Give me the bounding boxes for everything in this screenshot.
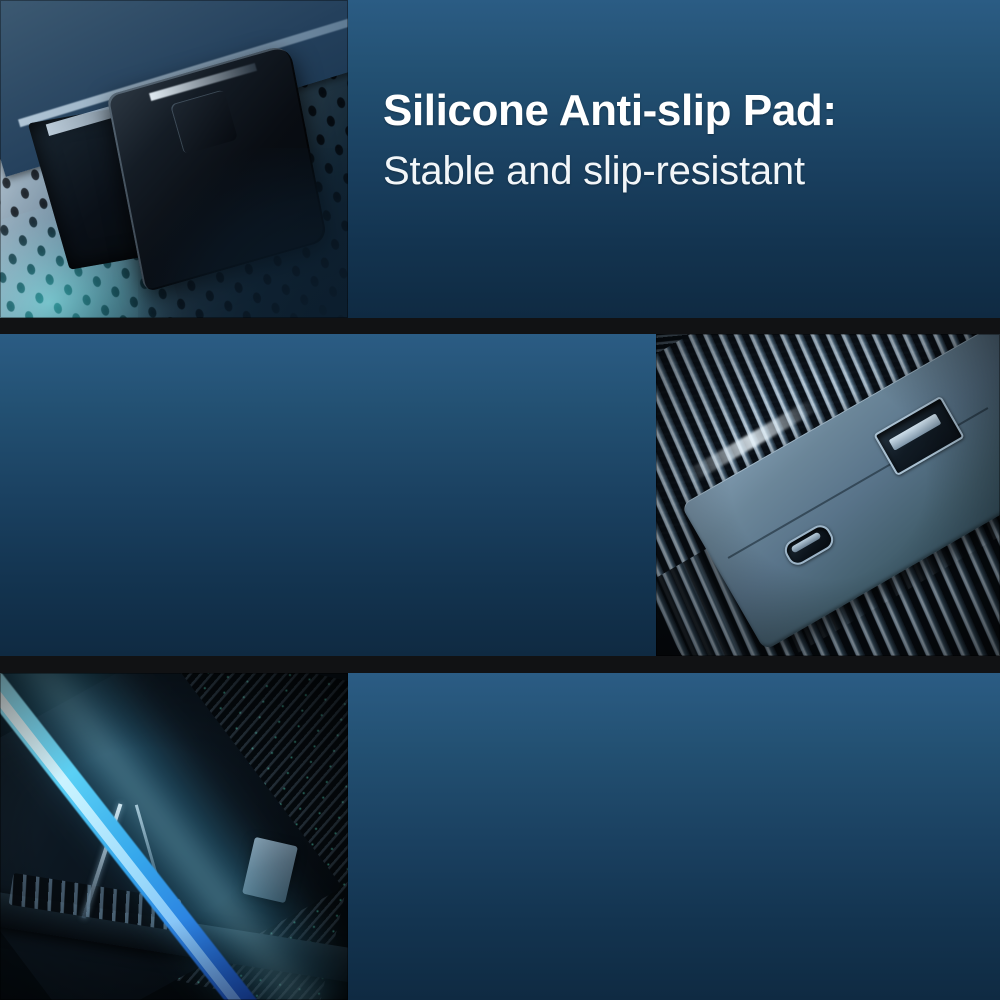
led-stand-graphic [0, 673, 348, 1000]
product-photo-multiple-ports-expansion [656, 334, 1000, 656]
feature-subline: Stable and slip-resistant [383, 150, 837, 192]
photo-vignette [0, 673, 348, 1000]
mesh-surface-graphic [0, 0, 348, 318]
product-photo-triangular-stability [0, 673, 348, 1000]
panel-divider-2 [0, 656, 1000, 673]
port-panel-graphic [656, 334, 1000, 656]
feature-panel-silicone-anti-slip-pad: Silicone Anti-slip Pad: Stable and slip-… [0, 0, 1000, 318]
product-feature-infographic: Silicone Anti-slip Pad: Stable and slip-… [0, 0, 1000, 1000]
feature-headline: Silicone Anti-slip Pad: [383, 88, 837, 134]
panel-divider-1 [0, 318, 1000, 334]
feature-text-silicone-anti-slip-pad: Silicone Anti-slip Pad: Stable and slip-… [383, 88, 837, 192]
photo-vignette [656, 334, 1000, 656]
product-photo-silicone-anti-slip-pad [0, 0, 348, 318]
corner-shadow [138, 148, 348, 318]
